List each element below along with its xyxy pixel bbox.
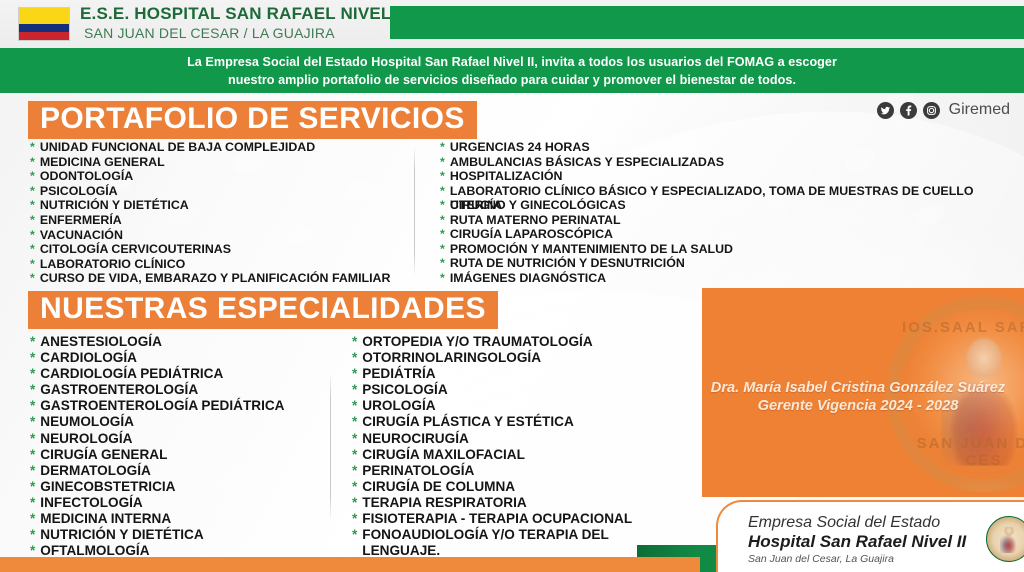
bullet-star-icon: * [30, 198, 35, 213]
bullet-star-icon: * [30, 398, 35, 414]
list-item: *UNIDAD FUNCIONAL DE BAJA COMPLEJIDAD [30, 140, 390, 155]
invitation-line-1: La Empresa Social del Estado Hospital Sa… [187, 53, 837, 71]
bullet-star-icon: * [440, 213, 445, 228]
bullet-star-icon: * [30, 184, 35, 199]
list-item: *CIRUGÍA PLÁSTICA Y ESTÉTICA [352, 414, 647, 430]
list-item-label: CARDIOLOGÍA PEDIÁTRICA [40, 366, 223, 382]
bullet-star-icon: * [30, 414, 35, 430]
seal-bottom-text: SAN JUAN DEL CES [899, 435, 1024, 469]
list-item: *NUTRICIÓN Y DIETÉTICA [30, 527, 285, 543]
list-item: *LABORATORIO CLÍNICO BÁSICO Y ESPECIALIZ… [440, 184, 1000, 213]
list-item-label: CITOLOGÍA CERVICOUTERINAS [40, 242, 231, 257]
list-item: *NEUROCIRUGÍA [352, 431, 647, 447]
bullet-star-icon: * [352, 527, 357, 543]
list-item-label: NEUMOLOGÍA [40, 414, 134, 430]
instagram-icon[interactable] [923, 102, 940, 119]
bullet-star-icon: * [30, 257, 35, 272]
manager-role: Gerente Vigencia 2024 - 2028 [708, 398, 1008, 414]
facebook-icon[interactable] [900, 102, 917, 119]
list-item-label: ORTOPEDIA Y/O TRAUMATOLOGÍA [362, 334, 592, 350]
header-band: E.S.E. HOSPITAL SAN RAFAEL NIVEL II SAN … [0, 0, 1024, 48]
bullet-star-icon: * [352, 431, 357, 447]
bullet-star-icon: * [352, 479, 357, 495]
list-item-label: AMBULANCIAS BÁSICAS Y ESPECIALIZADAS [450, 155, 724, 170]
bullet-star-icon: * [440, 242, 445, 257]
footer-brand-card: Empresa Social del Estado Hospital San R… [716, 500, 1024, 572]
list-item-label: DERMATOLOGÍA [40, 463, 151, 479]
manager-name: Dra. María Isabel Cristina González Suár… [708, 380, 1008, 396]
list-item-label: PSICOLOGÍA [40, 184, 118, 199]
list-item-label: LABORATORIO CLÍNICO BÁSICO Y ESPECIALIZA… [450, 184, 1000, 213]
list-item-label: NUTRICIÓN Y DIETÉTICA [40, 527, 203, 543]
specialties-column-divider [330, 372, 331, 522]
list-item: *NEUROLOGÍA [30, 431, 285, 447]
bullet-star-icon: * [30, 463, 35, 479]
list-item: *PSICOLOGÍA [352, 382, 647, 398]
list-item-label: UROLOGÍA [362, 398, 435, 414]
list-item-label: CIRUGÍA PLÁSTICA Y ESTÉTICA [362, 414, 573, 430]
footer-line-2: Hospital San Rafael Nivel II [748, 532, 966, 552]
list-item-label: IMÁGENES DIAGNÓSTICA [450, 271, 606, 286]
list-item-label: MEDICINA GENERAL [40, 155, 165, 170]
list-item: *CIRUGÍA LAPAROSCÓPICA [440, 227, 1000, 242]
list-item-label: GASTROENTEROLOGÍA [40, 382, 198, 398]
bullet-star-icon: * [30, 366, 35, 382]
list-item-label: LABORATORIO CLÍNICO [40, 257, 185, 272]
bullet-star-icon: * [352, 463, 357, 479]
bullet-star-icon: * [440, 198, 445, 213]
services-list-left: *UNIDAD FUNCIONAL DE BAJA COMPLEJIDAD *M… [30, 140, 390, 286]
list-item-label: CURSO DE VIDA, EMBARAZO Y PLANIFICACIÓN … [40, 271, 391, 286]
bullet-star-icon: * [30, 495, 35, 511]
list-item-label: MEDICINA INTERNA [40, 511, 171, 527]
list-item-label: ANESTESIOLOGÍA [40, 334, 162, 350]
bullet-star-icon: * [440, 271, 445, 286]
invitation-banner: La Empresa Social del Estado Hospital Sa… [0, 48, 1024, 93]
specialties-list-right: *ORTOPEDIA Y/O TRAUMATOLOGÍA *OTORRINOLA… [352, 334, 647, 559]
bullet-star-icon: * [352, 350, 357, 366]
bullet-star-icon: * [352, 398, 357, 414]
social-handle[interactable]: Giremed [949, 101, 1010, 119]
list-item-label: ODONTOLOGÍA [40, 169, 133, 184]
colombia-flag-icon [18, 7, 70, 41]
list-item: *CARDIOLOGÍA PEDIÁTRICA [30, 366, 285, 382]
bullet-star-icon: * [352, 447, 357, 463]
organization-title: E.S.E. HOSPITAL SAN RAFAEL NIVEL II [80, 4, 406, 24]
bullet-star-icon: * [30, 155, 35, 170]
list-item: *NUTRICIÓN Y DIETÉTICA [30, 198, 390, 213]
list-item-label: TERAPIA RESPIRATORIA [362, 495, 526, 511]
bullet-star-icon: * [30, 527, 35, 543]
list-item: *ODONTOLOGÍA [30, 169, 390, 184]
list-item: *DERMATOLOGÍA [30, 463, 285, 479]
bullet-star-icon: * [352, 511, 357, 527]
bullet-star-icon: * [352, 334, 357, 350]
list-item: *INFECTOLOGÍA [30, 495, 285, 511]
poster-canvas: E.S.E. HOSPITAL SAN RAFAEL NIVEL II SAN … [0, 0, 1024, 572]
list-item-label: URGENCIAS 24 HORAS [450, 140, 590, 155]
manager-panel: IOS.SAAL SAFAEL SAN JUAN DEL CES Dra. Ma… [702, 288, 1024, 497]
list-item: *VACUNACIÓN [30, 228, 390, 243]
bullet-star-icon: * [352, 495, 357, 511]
list-item: *ENFERMERÍA [30, 213, 390, 228]
list-item: *GINECOBSTETRICIA [30, 479, 285, 495]
list-item: *CITOLOGÍA CERVICOUTERINAS [30, 242, 390, 257]
header-green-accent-bar [390, 6, 1024, 39]
list-item-label: NEUROCIRUGÍA [362, 431, 469, 447]
list-item: *CARDIOLOGÍA [30, 350, 285, 366]
bullet-star-icon: * [30, 479, 35, 495]
list-item-label: PROMOCIÓN Y MANTENIMIENTO DE LA SALUD [450, 242, 733, 257]
bullet-star-icon: * [30, 382, 35, 398]
list-item: *ORTOPEDIA Y/O TRAUMATOLOGÍA [352, 334, 647, 350]
list-item-label: VACUNACIÓN [40, 228, 123, 243]
list-item-label: INFECTOLOGÍA [40, 495, 142, 511]
bullet-star-icon: * [30, 169, 35, 184]
list-item-label: CARDIOLOGÍA [40, 350, 137, 366]
list-item-label: PSICOLOGÍA [362, 382, 447, 398]
bullet-star-icon: * [440, 256, 445, 271]
bullet-star-icon: * [352, 382, 357, 398]
list-item: *ANESTESIOLOGÍA [30, 334, 285, 350]
list-item-label: NEUROLOGÍA [40, 431, 132, 447]
list-item-label: ENFERMERÍA [40, 213, 122, 228]
list-item-label: OTORRINOLARINGOLOGÍA [362, 350, 541, 366]
list-item: *MEDICINA INTERNA [30, 511, 285, 527]
list-item: *PSICOLOGÍA [30, 184, 390, 199]
list-item: *TERAPIA RESPIRATORIA [352, 495, 647, 511]
bullet-star-icon: * [30, 140, 35, 155]
list-item: *AMBULANCIAS BÁSICAS Y ESPECIALIZADAS [440, 155, 1000, 170]
organization-subtitle: SAN JUAN DEL CESAR / LA GUAJIRA [84, 25, 335, 41]
twitter-icon[interactable] [877, 102, 894, 119]
list-item-label: FONOAUDIOLOGÍA Y/O TERAPIA DEL LENGUAJE. [362, 527, 647, 559]
list-item: *RUTA DE NUTRICIÓN Y DESNUTRICIÓN [440, 256, 1000, 271]
list-item: *URGENCIAS 24 HORAS [440, 140, 1000, 155]
list-item-label: HOSPITALIZACIÓN [450, 169, 563, 184]
list-item: *CURSO DE VIDA, EMBARAZO Y PLANIFICACIÓN… [30, 271, 390, 286]
bullet-star-icon: * [440, 169, 445, 184]
footer-orange-bar [0, 557, 700, 572]
list-item: *GASTROENTEROLOGÍA [30, 382, 285, 398]
bullet-star-icon: * [30, 447, 35, 463]
seal-top-text: IOS.SAAL SAFAEL [899, 319, 1024, 336]
bullet-star-icon: * [30, 213, 35, 228]
services-list-right: *URGENCIAS 24 HORAS *AMBULANCIAS BÁSICAS… [440, 140, 1000, 286]
bullet-star-icon: * [440, 155, 445, 170]
list-item: *RUTA MATERNO PERINATAL [440, 213, 1000, 228]
list-item: *UROLOGÍA [352, 398, 647, 414]
social-media-group[interactable]: Giremed [877, 101, 1010, 119]
bullet-star-icon: * [30, 271, 35, 286]
list-item: *NEUMOLOGÍA [30, 414, 285, 430]
bullet-star-icon: * [352, 414, 357, 430]
list-item-label: GINECOBSTETRICIA [40, 479, 175, 495]
list-item: *IMÁGENES DIAGNÓSTICA [440, 271, 1000, 286]
list-item: *FONOAUDIOLOGÍA Y/O TERAPIA DEL LENGUAJE… [352, 527, 647, 559]
seal-figure-icon [1000, 527, 1018, 553]
bullet-star-icon: * [30, 242, 35, 257]
list-item-label: UNIDAD FUNCIONAL DE BAJA COMPLEJIDAD [40, 140, 315, 155]
bullet-star-icon: * [30, 334, 35, 350]
specialties-section-title: NUESTRAS ESPECIALIDADES [28, 291, 498, 329]
list-item-label: RUTA DE NUTRICIÓN Y DESNUTRICIÓN [450, 256, 685, 271]
list-item-label: PERINATOLOGÍA [362, 463, 474, 479]
bullet-star-icon: * [30, 350, 35, 366]
list-item-label: CIRUGÍA DE COLUMNA [362, 479, 515, 495]
hospital-seal-icon [986, 516, 1024, 562]
list-item-label: FISIOTERAPIA - TERAPIA OCUPACIONAL [362, 511, 632, 527]
list-item: *CIRUGÍA MAXILOFACIAL [352, 447, 647, 463]
list-item: *PROMOCIÓN Y MANTENIMIENTO DE LA SALUD [440, 242, 1000, 257]
list-item: *HOSPITALIZACIÓN [440, 169, 1000, 184]
specialties-list-left: *ANESTESIOLOGÍA *CARDIOLOGÍA *CARDIOLOGÍ… [30, 334, 285, 559]
list-item-label: CIRUGÍA MAXILOFACIAL [362, 447, 525, 463]
invitation-line-2: nuestro amplio portafolio de servicios d… [228, 71, 796, 89]
list-item-label: PEDIÁTRÍA [362, 366, 435, 382]
bullet-star-icon: * [30, 511, 35, 527]
list-item: *OTORRINOLARINGOLOGÍA [352, 350, 647, 366]
list-item: *MEDICINA GENERAL [30, 155, 390, 170]
services-section-title: PORTAFOLIO DE SERVICIOS [28, 101, 477, 139]
list-item: *CIRUGÍA GENERAL [30, 447, 285, 463]
bullet-star-icon: * [440, 184, 445, 199]
list-item: *PEDIÁTRÍA [352, 366, 647, 382]
services-column-divider [414, 146, 415, 276]
bullet-star-icon: * [30, 431, 35, 447]
list-item: *FISIOTERAPIA - TERAPIA OCUPACIONAL [352, 511, 647, 527]
bullet-star-icon: * [440, 140, 445, 155]
bullet-star-icon: * [30, 228, 35, 243]
list-item: *GASTROENTEROLOGÍA PEDIÁTRICA [30, 398, 285, 414]
list-item-label: NUTRICIÓN Y DIETÉTICA [40, 198, 189, 213]
footer-line-1: Empresa Social del Estado [748, 514, 940, 532]
list-item-label: CIRUGÍA LAPAROSCÓPICA [450, 227, 613, 242]
bullet-star-icon: * [440, 227, 445, 242]
list-item: *LABORATORIO CLÍNICO [30, 257, 390, 272]
list-item: *PERINATOLOGÍA [352, 463, 647, 479]
list-item-label: CIRUGÍA [450, 198, 502, 213]
list-item: *CIRUGÍA DE COLUMNA [352, 479, 647, 495]
list-item-label: GASTROENTEROLOGÍA PEDIÁTRICA [40, 398, 284, 414]
footer-line-3: San Juan del Cesar, La Guajira [748, 553, 894, 565]
list-item-label: CIRUGÍA GENERAL [40, 447, 167, 463]
bullet-star-icon: * [352, 366, 357, 382]
list-item-label: RUTA MATERNO PERINATAL [450, 213, 621, 228]
